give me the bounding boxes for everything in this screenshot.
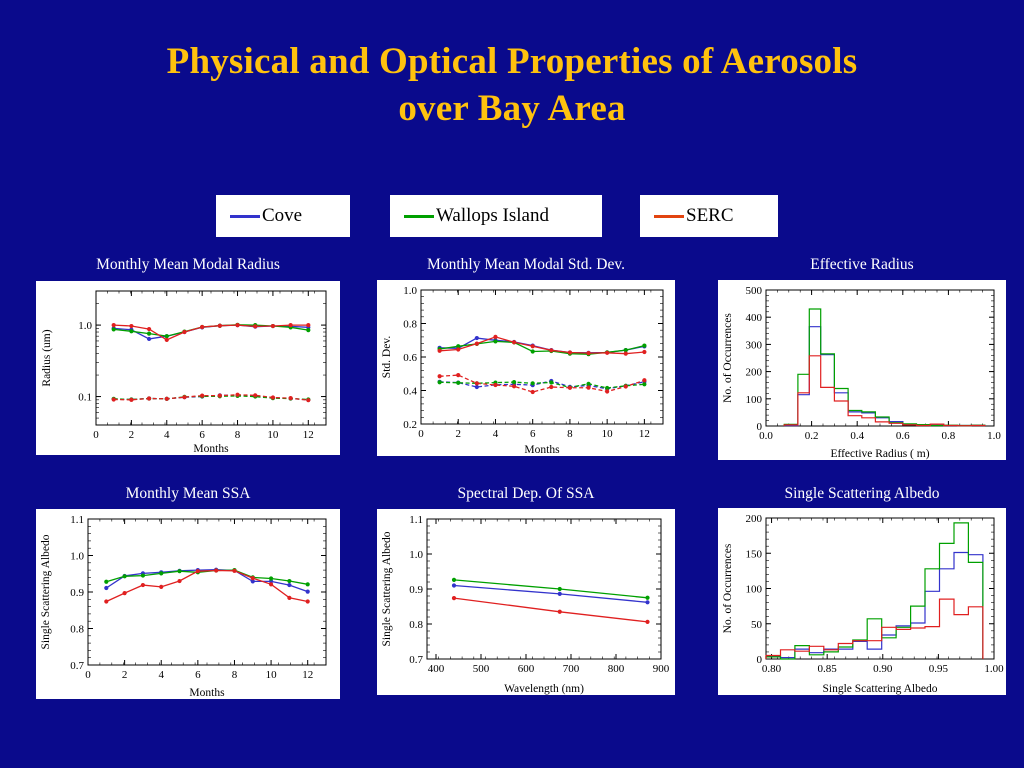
page-title: Physical and Optical Properties of Aeros… <box>0 38 1024 133</box>
chart-panel-modal-radius: 0246810120.11.0MonthsRadius (um) <box>36 281 340 455</box>
svg-text:10: 10 <box>266 669 278 681</box>
svg-text:0.4: 0.4 <box>850 430 864 442</box>
chart-panel-effective-radius: 0.00.20.40.60.81.00100200300400500Effect… <box>718 280 1006 460</box>
slide: Physical and Optical Properties of Aeros… <box>0 0 1024 768</box>
svg-text:0.7: 0.7 <box>409 654 423 666</box>
svg-text:0.8: 0.8 <box>942 430 956 442</box>
svg-text:Effective Radius ( m): Effective Radius ( m) <box>830 448 929 460</box>
svg-text:0.6: 0.6 <box>896 430 910 442</box>
svg-text:10: 10 <box>267 429 279 441</box>
svg-text:10: 10 <box>602 428 614 440</box>
caption-spectral-ssa: Spectral Dep. Of SSA <box>377 485 675 503</box>
svg-text:400: 400 <box>428 663 445 675</box>
svg-text:100: 100 <box>746 394 763 406</box>
svg-text:0.6: 0.6 <box>403 352 417 364</box>
svg-text:8: 8 <box>567 428 573 440</box>
svg-text:0.2: 0.2 <box>805 430 819 442</box>
svg-text:200: 200 <box>746 513 763 525</box>
svg-text:2: 2 <box>122 669 128 681</box>
svg-text:600: 600 <box>518 663 535 675</box>
svg-text:Radius (um): Radius (um) <box>41 329 53 386</box>
svg-text:200: 200 <box>746 367 763 379</box>
svg-text:4: 4 <box>158 669 164 681</box>
svg-text:0: 0 <box>757 421 763 433</box>
svg-text:12: 12 <box>303 429 314 441</box>
svg-text:50: 50 <box>751 619 763 631</box>
caption-modal-std-dev: Monthly Mean Modal Std. Dev. <box>377 256 675 274</box>
svg-text:Wavelength (nm): Wavelength (nm) <box>504 683 584 695</box>
svg-text:Single Scattering Albedo: Single Scattering Albedo <box>381 531 393 646</box>
svg-text:1.0: 1.0 <box>409 549 423 561</box>
svg-text:0.8: 0.8 <box>403 319 417 331</box>
svg-text:6: 6 <box>530 428 536 440</box>
svg-text:0.9: 0.9 <box>409 584 423 596</box>
svg-text:1.0: 1.0 <box>403 285 417 297</box>
svg-text:0.2: 0.2 <box>403 419 417 431</box>
svg-text:150: 150 <box>746 548 763 560</box>
svg-text:0.8: 0.8 <box>409 619 423 631</box>
title-line-1: Physical and Optical Properties of Aeros… <box>167 41 858 82</box>
svg-text:500: 500 <box>473 663 490 675</box>
svg-text:0.7: 0.7 <box>70 660 84 672</box>
svg-text:12: 12 <box>639 428 650 440</box>
caption-monthly-ssa: Monthly Mean SSA <box>36 485 340 503</box>
svg-text:0.8: 0.8 <box>70 624 84 636</box>
svg-text:1.0: 1.0 <box>987 430 1001 442</box>
svg-text:No. of Occurrences: No. of Occurrences <box>722 313 734 403</box>
svg-text:4: 4 <box>493 428 499 440</box>
legend-line-cove <box>230 215 260 218</box>
svg-text:Months: Months <box>193 443 229 455</box>
svg-text:1.1: 1.1 <box>409 514 423 526</box>
svg-text:2: 2 <box>455 428 461 440</box>
svg-text:800: 800 <box>608 663 625 675</box>
svg-text:0: 0 <box>418 428 424 440</box>
svg-text:1.00: 1.00 <box>984 663 1004 675</box>
svg-text:Single Scattering Albedo: Single Scattering Albedo <box>823 683 938 695</box>
legend-label-wallops-island: Wallops Island <box>436 205 549 227</box>
svg-text:Std. Dev.: Std. Dev. <box>381 336 393 379</box>
svg-text:0: 0 <box>85 669 91 681</box>
svg-text:1.1: 1.1 <box>70 514 84 526</box>
svg-text:8: 8 <box>235 429 241 441</box>
svg-text:0.80: 0.80 <box>762 663 782 675</box>
svg-text:0: 0 <box>93 429 99 441</box>
legend-label-serc: SERC <box>686 205 734 227</box>
legend-item-cove: Cove <box>216 195 350 237</box>
svg-text:900: 900 <box>653 663 670 675</box>
legend-label-cove: Cove <box>262 205 302 227</box>
svg-text:0.4: 0.4 <box>403 386 417 398</box>
svg-text:0.95: 0.95 <box>929 663 949 675</box>
svg-text:Months: Months <box>524 444 560 456</box>
svg-text:100: 100 <box>746 584 763 596</box>
svg-text:8: 8 <box>232 669 238 681</box>
svg-text:400: 400 <box>746 312 763 324</box>
svg-text:Months: Months <box>189 687 225 699</box>
chart-panel-ssa-hist: 0.800.850.900.951.00050100150200Single S… <box>718 508 1006 695</box>
legend: Cove Wallops Island SERC <box>0 195 1024 239</box>
svg-text:6: 6 <box>199 429 205 441</box>
svg-text:Single Scattering Albedo: Single Scattering Albedo <box>40 534 52 649</box>
legend-item-serc: SERC <box>640 195 778 237</box>
svg-text:700: 700 <box>563 663 580 675</box>
chart-panel-spectral-ssa: 4005006007008009000.70.80.91.01.1Wavelen… <box>377 509 675 695</box>
svg-text:0.1: 0.1 <box>78 392 92 404</box>
svg-text:0.9: 0.9 <box>70 587 84 599</box>
legend-line-serc <box>654 215 684 218</box>
caption-modal-radius: Monthly Mean Modal Radius <box>36 256 340 274</box>
svg-text:6: 6 <box>195 669 201 681</box>
svg-text:2: 2 <box>129 429 135 441</box>
svg-text:4: 4 <box>164 429 170 441</box>
legend-item-wallops-island: Wallops Island <box>390 195 602 237</box>
svg-text:300: 300 <box>746 339 763 351</box>
svg-text:500: 500 <box>746 285 763 297</box>
svg-text:1.0: 1.0 <box>70 551 84 563</box>
chart-panel-monthly-ssa: 0246810120.70.80.91.01.1MonthsSingle Sca… <box>36 509 340 699</box>
svg-text:0: 0 <box>757 654 763 666</box>
chart-panel-modal-std-dev: 0246810120.20.40.60.81.0MonthsStd. Dev. <box>377 280 675 456</box>
svg-text:0.85: 0.85 <box>818 663 838 675</box>
svg-text:0.90: 0.90 <box>873 663 893 675</box>
title-line-2: over Bay Area <box>0 85 1024 132</box>
caption-effective-radius: Effective Radius <box>718 256 1006 274</box>
legend-line-wallops-island <box>404 215 434 218</box>
svg-text:1.0: 1.0 <box>78 320 92 332</box>
svg-text:12: 12 <box>302 669 313 681</box>
svg-text:No. of Occurrences: No. of Occurrences <box>722 543 734 633</box>
caption-ssa-hist: Single Scattering Albedo <box>718 485 1006 503</box>
